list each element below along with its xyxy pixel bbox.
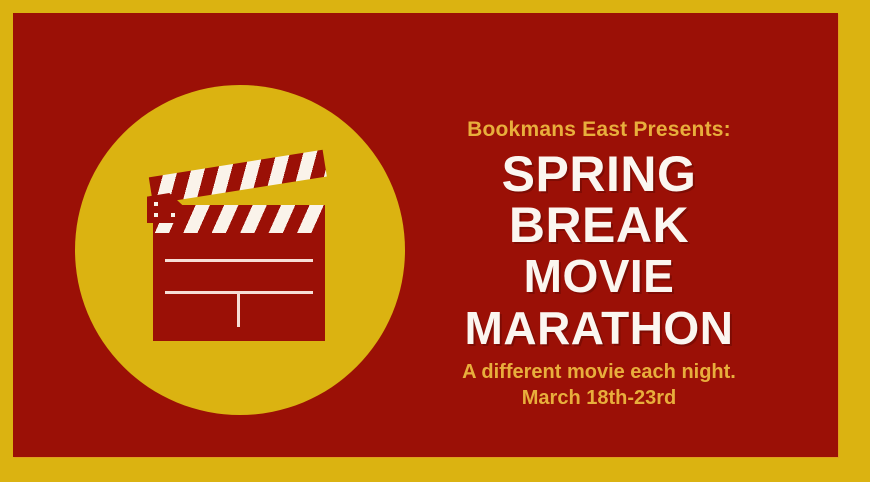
poster-inner-panel: Bookmans East Presents: SPRING BREAK MOV… [13, 13, 838, 457]
hinge-screw-icon [154, 202, 158, 206]
clapperboard-line-vertical [237, 291, 240, 327]
poster-title-line-1: SPRING BREAK [409, 149, 789, 251]
clapperboard-body [153, 231, 325, 341]
poster-dates: March 18th-23rd [409, 385, 789, 411]
poster-text-block: Bookmans East Presents: SPRING BREAK MOV… [409, 117, 789, 411]
clapperboard-upper-stripes [149, 150, 327, 204]
poster-title-line-3: MARATHON [409, 303, 789, 355]
clapperboard-line-top [165, 259, 313, 262]
presenter-kicker: Bookmans East Presents: [409, 117, 789, 143]
movie-clapperboard-icon [143, 153, 338, 353]
promotional-poster: Bookmans East Presents: SPRING BREAK MOV… [0, 0, 870, 482]
poster-subtitle: A different movie each night. [409, 359, 789, 385]
hinge-screw-icon [154, 213, 158, 217]
poster-title-line-2: MOVIE [409, 251, 789, 303]
hinge-screw-icon [171, 213, 175, 217]
